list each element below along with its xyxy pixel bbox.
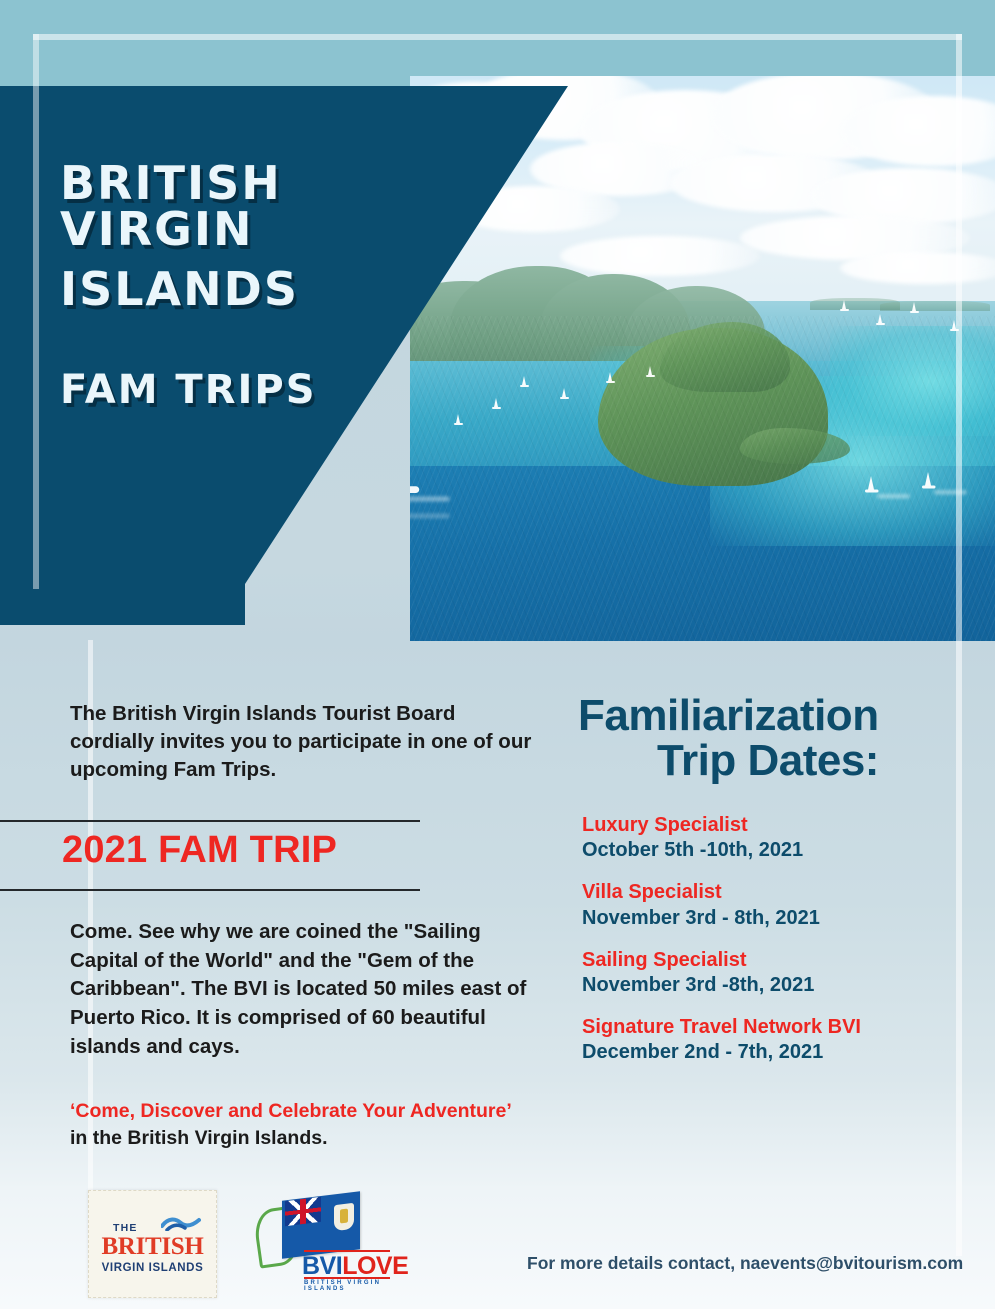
content-area: The British Virgin Islands Tourist Board… — [0, 655, 995, 1195]
union-jack-icon — [285, 1197, 321, 1226]
logo-virgin-islands: VIRGIN ISLANDS — [102, 1262, 204, 1274]
trip-date-item: Signature Travel Network BVI December 2n… — [582, 1015, 972, 1065]
dates-title-line-1: Familiarization — [578, 691, 879, 740]
water-ripple-texture — [410, 316, 995, 641]
flyer-page: BRITISH VIRGIN ISLANDS FAM TRIPS The Bri… — [0, 0, 995, 1309]
wave-icon — [161, 1215, 201, 1231]
title-line-2: ISLANDS — [60, 266, 490, 312]
bvilove-subtitle: BRITISH VIRGIN ISLANDS — [304, 1280, 392, 1292]
frame-top-border — [33, 34, 962, 40]
tagline-block: ‘Come, Discover and Celebrate Your Adven… — [70, 1098, 550, 1153]
intro-paragraph: The British Virgin Islands Tourist Board… — [70, 700, 540, 784]
top-teal-band — [0, 0, 995, 86]
tagline-quote: ‘Come, Discover and Celebrate Your Adven… — [70, 1098, 550, 1125]
specialist-label: Sailing Specialist — [582, 948, 972, 973]
specialist-dates: October 5th -10th, 2021 — [582, 838, 972, 863]
dates-title-line-2: Trip Dates: — [578, 738, 958, 783]
contact-line[interactable]: For more details contact, naevents@bvito… — [527, 1253, 963, 1274]
body-paragraph: Come. See why we are coined the "Sailing… — [70, 918, 540, 1061]
distant-hill — [880, 301, 990, 311]
frame-left-border — [33, 34, 39, 589]
dates-title: Familiarization Trip Dates: — [578, 693, 958, 784]
footer: THE BRITISH VIRGIN ISLANDS BVILOVE BRITI… — [0, 1185, 995, 1309]
cloud — [840, 252, 995, 284]
specialist-dates: November 3rd -8th, 2021 — [582, 973, 972, 998]
tagline-rest: in the British Virgin Islands. — [70, 1127, 328, 1149]
page-title: BRITISH VIRGIN ISLANDS FAM TRIPS — [60, 160, 490, 410]
divider-below-heading — [0, 889, 420, 891]
trip-date-item: Sailing Specialist November 3rd -8th, 20… — [582, 948, 972, 998]
title-line-3: FAM TRIPS — [60, 370, 490, 410]
cloud — [560, 236, 760, 276]
section-heading: 2021 FAM TRIP — [62, 829, 337, 872]
logo-british: BRITISH — [101, 1234, 203, 1259]
specialist-label: Villa Specialist — [582, 880, 972, 905]
bvilove-logo: BVILOVE BRITISH VIRGIN ISLANDS — [252, 1190, 392, 1290]
specialist-dates: November 3rd - 8th, 2021 — [582, 906, 972, 931]
logo-rule-bottom — [304, 1277, 390, 1279]
title-line-1: BRITISH VIRGIN — [60, 160, 490, 252]
specialist-dates: December 2nd - 7th, 2021 — [582, 1040, 972, 1065]
trip-date-item: Luxury Specialist October 5th -10th, 202… — [582, 813, 972, 863]
bvilove-love: LOVE — [342, 1252, 408, 1280]
bvilove-bvi: BVI — [302, 1252, 342, 1280]
british-virgin-islands-logo: THE BRITISH VIRGIN ISLANDS — [88, 1190, 217, 1298]
divider-above-heading — [0, 820, 420, 822]
trip-dates-list: Luxury Specialist October 5th -10th, 202… — [582, 813, 972, 1083]
specialist-label: Signature Travel Network BVI — [582, 1015, 972, 1040]
trip-date-item: Villa Specialist November 3rd - 8th, 202… — [582, 880, 972, 930]
specialist-label: Luxury Specialist — [582, 813, 972, 838]
bvilove-wordmark: BVILOVE — [302, 1254, 408, 1279]
